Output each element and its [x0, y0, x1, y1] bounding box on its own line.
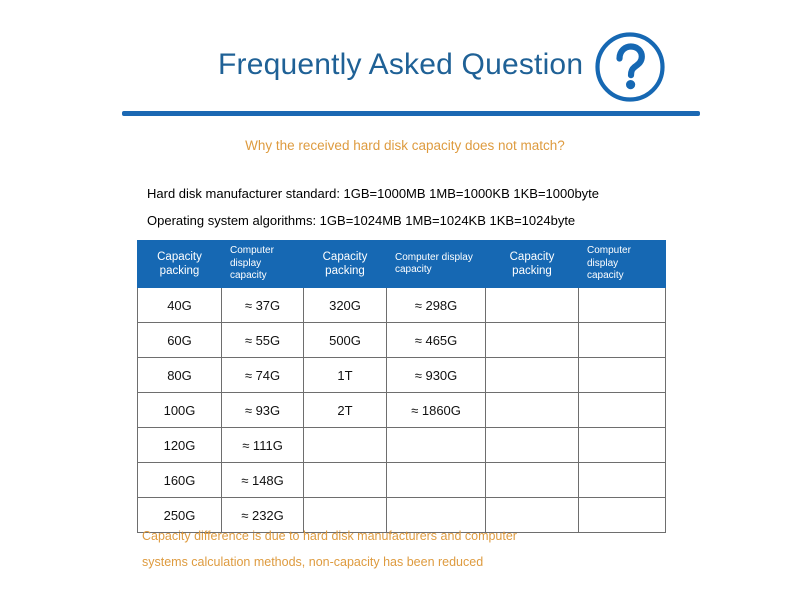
table-cell — [486, 358, 579, 393]
table-cell: ≈ 111G — [222, 428, 304, 463]
table-row: 80G≈ 74G1T≈ 930G — [138, 358, 666, 393]
table-cell — [387, 498, 486, 533]
table-row: 120G≈ 111G — [138, 428, 666, 463]
table-cell — [486, 428, 579, 463]
table-cell — [579, 323, 666, 358]
table-column-header: Capacity packing — [486, 241, 579, 288]
table-cell — [486, 463, 579, 498]
capacity-comparison-table: Capacity packingComputer display capacit… — [137, 240, 666, 533]
question-mark-circle-icon — [594, 31, 666, 103]
table-cell: ≈ 55G — [222, 323, 304, 358]
table-cell — [304, 498, 387, 533]
table-cell: 100G — [138, 393, 222, 428]
table-header-row: Capacity packingComputer display capacit… — [138, 241, 666, 288]
table-cell: 250G — [138, 498, 222, 533]
table-cell — [486, 498, 579, 533]
table-cell: ≈ 298G — [387, 288, 486, 323]
table-row: 250G≈ 232G — [138, 498, 666, 533]
table-row: 160G≈ 148G — [138, 463, 666, 498]
table-column-header: Computer display capacity — [579, 241, 666, 288]
table-cell: 500G — [304, 323, 387, 358]
table-cell: ≈ 232G — [222, 498, 304, 533]
operating-system-algorithms-line: Operating system algorithms: 1GB=1024MB … — [147, 213, 575, 228]
table-cell — [387, 428, 486, 463]
table-cell: ≈ 93G — [222, 393, 304, 428]
table-cell — [304, 463, 387, 498]
subtitle-question: Why the received hard disk capacity does… — [0, 138, 810, 153]
table-column-header: Capacity packing — [138, 241, 222, 288]
table-row: 40G≈ 37G320G≈ 298G — [138, 288, 666, 323]
table-cell: ≈ 1860G — [387, 393, 486, 428]
table-cell — [486, 393, 579, 428]
page-title: Frequently Asked Question — [218, 48, 583, 82]
table-cell: 80G — [138, 358, 222, 393]
table-column-header: Computer display capacity — [387, 241, 486, 288]
manufacturer-standard-line: Hard disk manufacturer standard: 1GB=100… — [147, 186, 599, 201]
table-cell: 1T — [304, 358, 387, 393]
table-cell — [579, 428, 666, 463]
table-cell — [579, 288, 666, 323]
table-cell — [304, 428, 387, 463]
table-cell: 60G — [138, 323, 222, 358]
table-cell — [579, 498, 666, 533]
table-cell: ≈ 74G — [222, 358, 304, 393]
footer-note-line-2: systems calculation methods, non-capacit… — [142, 555, 483, 569]
table-cell: ≈ 930G — [387, 358, 486, 393]
table-cell: ≈ 148G — [222, 463, 304, 498]
table-column-header: Computer display capacity — [222, 241, 304, 288]
table-cell — [387, 463, 486, 498]
table-cell: 160G — [138, 463, 222, 498]
table-row: 60G≈ 55G500G≈ 465G — [138, 323, 666, 358]
table-cell: 2T — [304, 393, 387, 428]
table-column-header: Capacity packing — [304, 241, 387, 288]
table-cell: 320G — [304, 288, 387, 323]
table-row: 100G≈ 93G2T≈ 1860G — [138, 393, 666, 428]
table-cell: 40G — [138, 288, 222, 323]
footer-note-line-1: Capacity difference is due to hard disk … — [142, 529, 517, 543]
table-cell — [486, 323, 579, 358]
table-cell — [579, 393, 666, 428]
table-cell: ≈ 465G — [387, 323, 486, 358]
table-cell: 120G — [138, 428, 222, 463]
title-divider — [122, 111, 700, 116]
table-cell — [579, 463, 666, 498]
table-cell: ≈ 37G — [222, 288, 304, 323]
page-header: Frequently Asked Question — [0, 0, 810, 120]
table-cell — [486, 288, 579, 323]
table-cell — [579, 358, 666, 393]
